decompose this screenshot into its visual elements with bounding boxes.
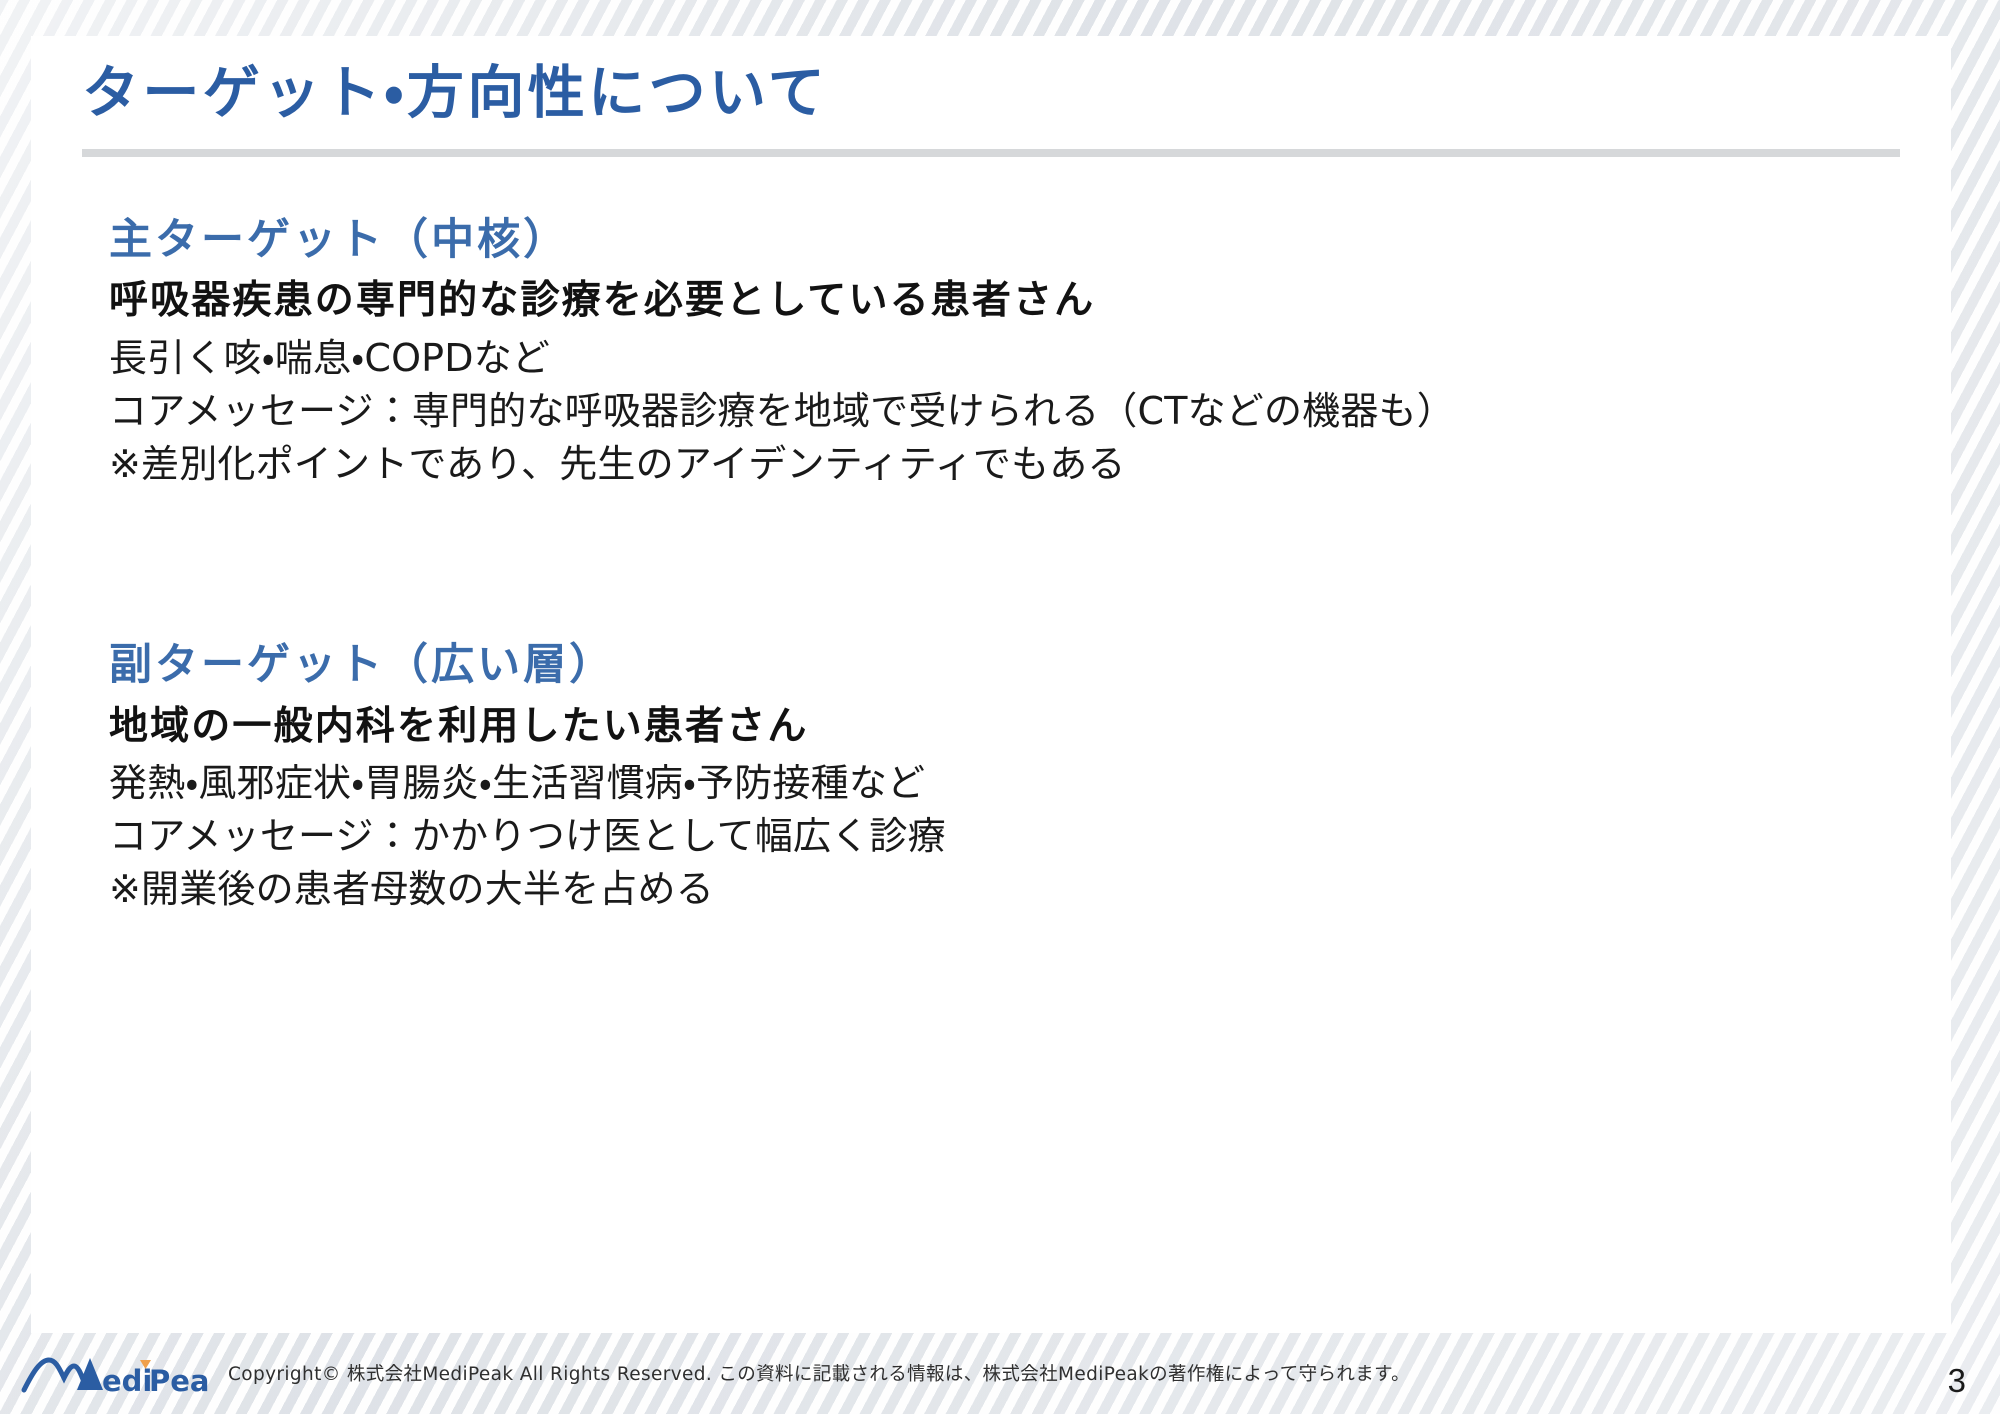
content-area: 主ターゲット（中核） 呼吸器疾患の専門的な診療を必要としている患者さん 長引く咳… [109,214,1909,916]
page-number: 3 [1948,1362,1966,1400]
block-line-secondary-2: コアメッセージ：かかりつけ医として幅広く診療 [109,810,1909,863]
medipeak-logo-icon: edi Peak [18,1344,208,1402]
block-line-secondary-3: ※開業後の患者母数の大半を占める [109,863,1909,916]
svg-text:edi: edi [102,1364,152,1398]
copyright-text: Copyright© 株式会社MediPeak All Rights Reser… [228,1364,1410,1386]
title-divider [82,149,1900,157]
block-heading-primary: 主ターゲット（中核） [109,214,1909,266]
block-line-primary-3: ※差別化ポイントであり、先生のアイデンティティでもある [109,438,1909,491]
block-line-secondary-1: 発熱・風邪症状・胃腸炎・生活習慣病・予防接種など [109,757,1909,810]
block-lead-primary: 呼吸器疾患の専門的な診療を必要としている患者さん [109,276,1909,325]
target-block-primary: 主ターゲット（中核） 呼吸器疾患の専門的な診療を必要としている患者さん 長引く咳… [109,214,1909,491]
block-heading-secondary: 副ターゲット（広い層） [109,639,1909,691]
svg-text:Peak: Peak [149,1364,208,1398]
medipeak-logo: edi Peak [18,1344,208,1402]
slide-background: ターゲット・方向性について 主ターゲット（中核） 呼吸器疾患の専門的な診療を必要… [0,0,2000,1414]
block-line-primary-2: コアメッセージ：専門的な呼吸器診療を地域で受けられる（CTなどの機器も） [109,385,1909,438]
target-block-secondary: 副ターゲット（広い層） 地域の一般内科を利用したい患者さん 発熱・風邪症状・胃腸… [109,639,1909,916]
block-lead-secondary: 地域の一般内科を利用したい患者さん [109,702,1909,751]
slide-footer: edi Peak Copyright© 株式会社MediPeak All Rig… [0,1332,2000,1414]
block-line-primary-1: 長引く咳・喘息・COPDなど [109,332,1909,385]
page-title: ターゲット・方向性について [82,60,1902,127]
slide-page: ターゲット・方向性について 主ターゲット（中核） 呼吸器疾患の専門的な診療を必要… [31,36,1951,1333]
title-area: ターゲット・方向性について [82,60,1902,127]
